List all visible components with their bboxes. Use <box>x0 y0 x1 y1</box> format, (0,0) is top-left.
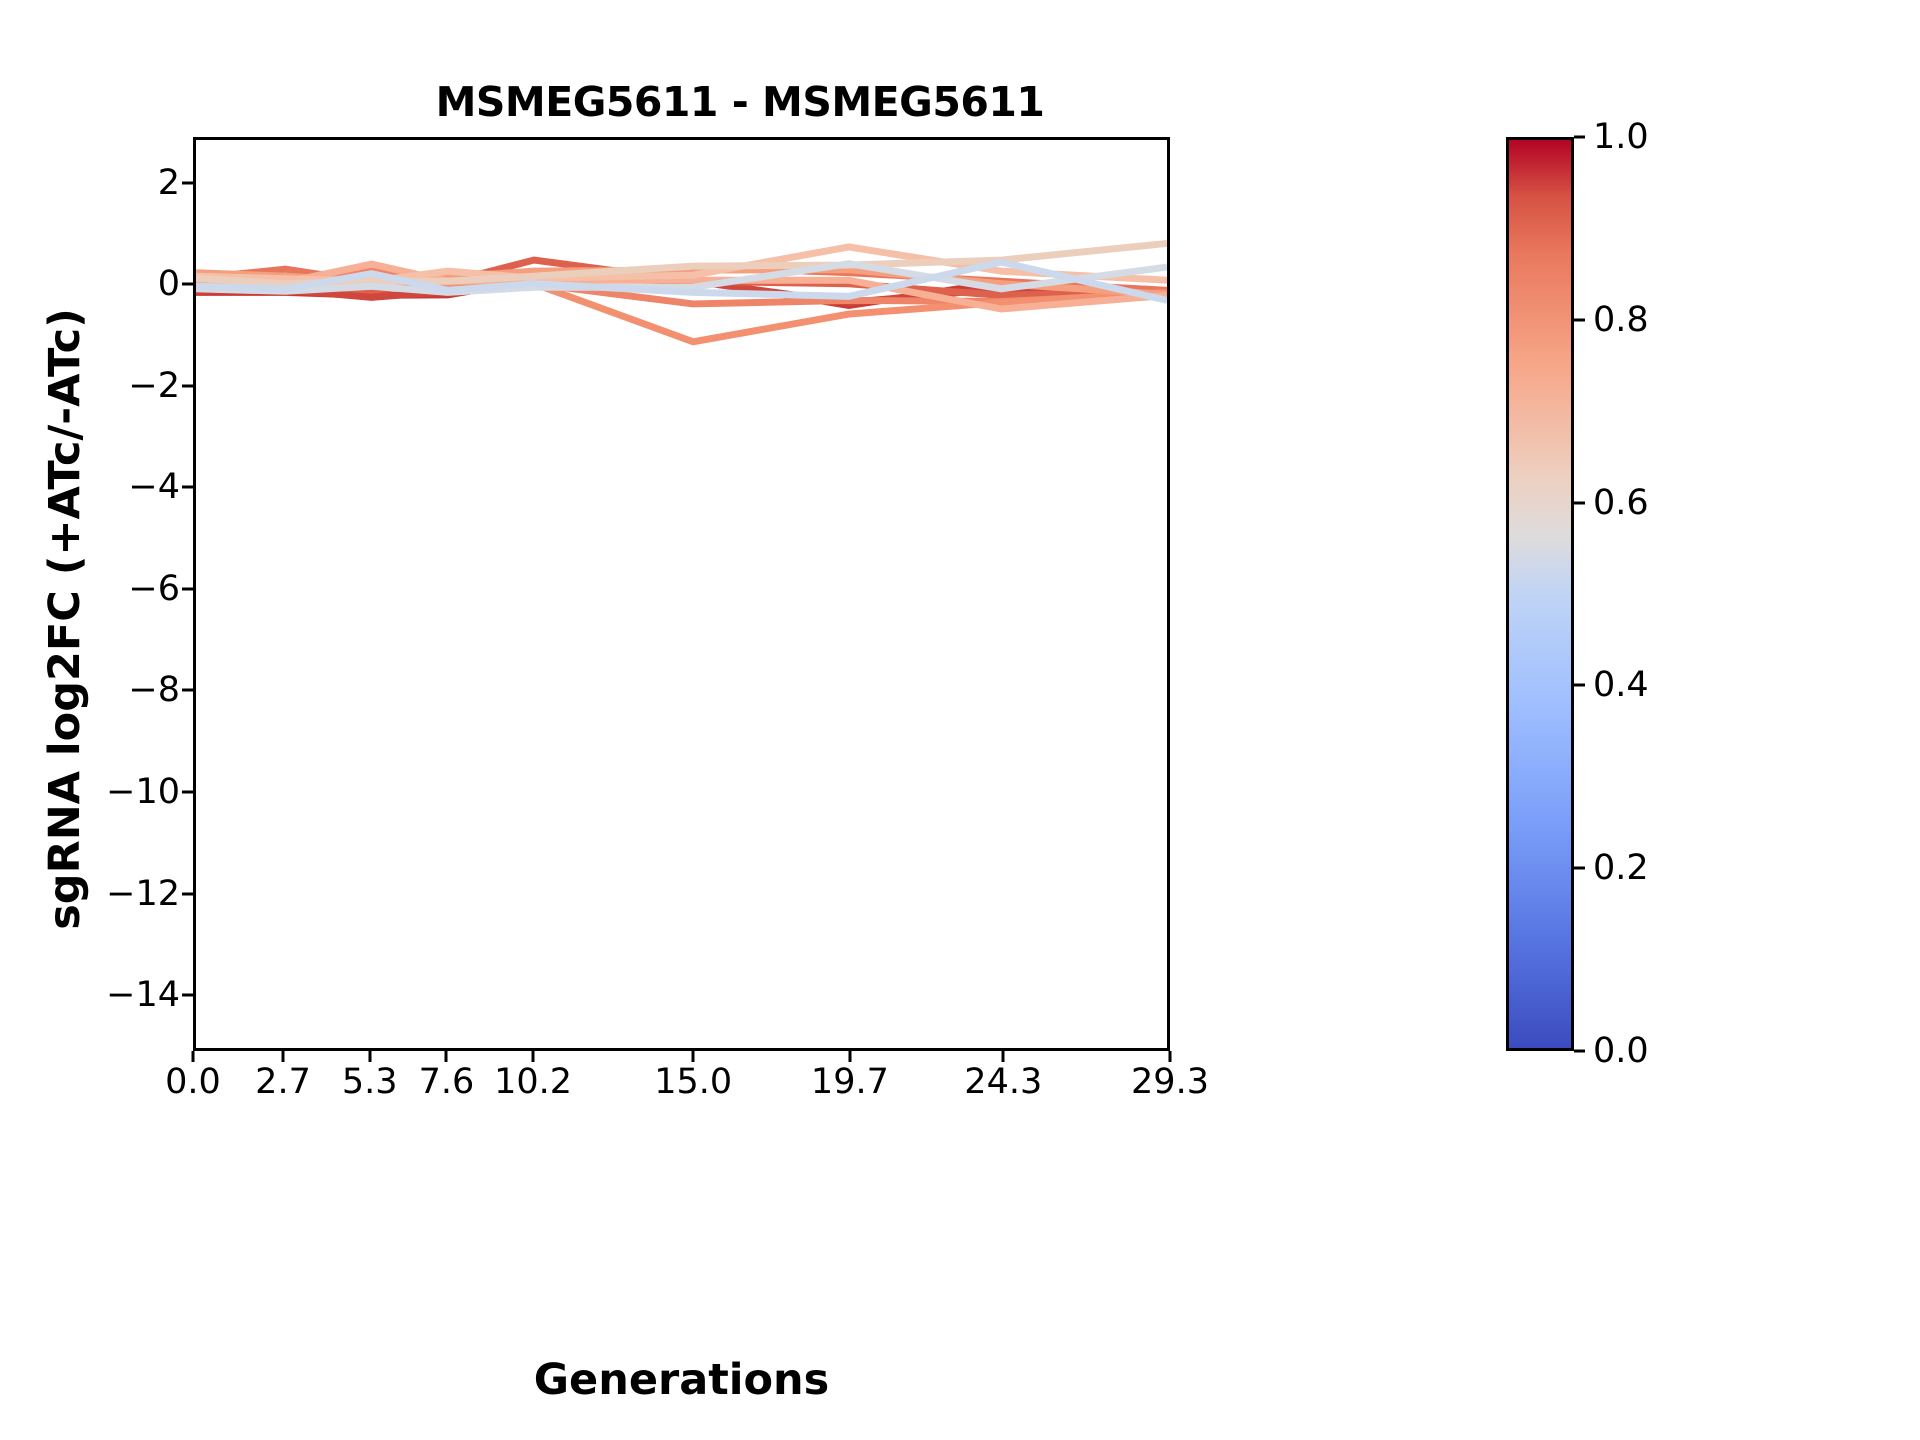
colorbar-tick-mark <box>1574 501 1585 504</box>
colorbar-tick-mark <box>1574 136 1585 139</box>
y-tick-mark <box>182 791 193 794</box>
x-tick-label: 2.7 <box>255 1062 311 1102</box>
y-tick-label: −10 <box>106 772 180 812</box>
x-tick-label: 29.3 <box>1131 1062 1209 1102</box>
y-tick-mark <box>182 283 193 286</box>
colorbar-tick-label: 0.0 <box>1593 1031 1649 1071</box>
series-lines-svg <box>196 140 1167 1048</box>
x-tick-mark <box>848 1051 851 1062</box>
colorbar-tick-mark <box>1574 318 1585 321</box>
x-tick-mark <box>1002 1051 1005 1062</box>
y-tick-mark <box>182 384 193 387</box>
x-tick-mark <box>1169 1051 1172 1062</box>
x-tick-label: 19.7 <box>811 1062 889 1102</box>
colorbar-tick-label: 0.6 <box>1593 483 1649 523</box>
y-tick-mark <box>182 994 193 997</box>
figure-canvas: MSMEG5611 - MSMEG5611 sgRNA log2FC (+ATc… <box>0 0 1920 1440</box>
y-tick-label: −6 <box>128 569 180 609</box>
colorbar-gradient <box>1506 137 1574 1051</box>
colorbar-tick-mark <box>1574 1050 1585 1053</box>
colorbar: 1.00.80.60.40.20.0 <box>1506 137 1574 1051</box>
y-tick-label: 0 <box>158 264 180 304</box>
colorbar-tick-label: 0.4 <box>1593 665 1649 705</box>
colorbar-tick-label: 0.8 <box>1593 300 1649 340</box>
chart-title: MSMEG5611 - MSMEG5611 <box>240 78 1240 126</box>
y-tick-mark <box>182 587 193 590</box>
colorbar-tick-mark <box>1574 867 1585 870</box>
y-tick-mark <box>182 892 193 895</box>
x-tick-label: 7.6 <box>419 1062 475 1102</box>
x-tick-mark <box>282 1051 285 1062</box>
x-tick-mark <box>692 1051 695 1062</box>
y-tick-mark <box>182 689 193 692</box>
x-tick-mark <box>368 1051 371 1062</box>
y-tick-label: 2 <box>158 163 180 203</box>
x-tick-label: 5.3 <box>342 1062 398 1102</box>
x-tick-label: 15.0 <box>654 1062 732 1102</box>
x-tick-mark <box>445 1051 448 1062</box>
x-axis-label: Generations <box>193 1355 1170 1405</box>
x-tick-label: 10.2 <box>494 1062 572 1102</box>
y-axis-tick-group: 20−2−4−6−8−10−12−14 <box>80 0 180 1440</box>
plot-area <box>193 137 1170 1051</box>
y-tick-label: −8 <box>128 670 180 710</box>
x-tick-mark <box>192 1051 195 1062</box>
y-tick-mark <box>182 181 193 184</box>
colorbar-tick-mark <box>1574 684 1585 687</box>
x-tick-mark <box>532 1051 535 1062</box>
x-tick-label: 24.3 <box>964 1062 1042 1102</box>
y-tick-label: −4 <box>128 467 180 507</box>
colorbar-tick-label: 0.2 <box>1593 848 1649 888</box>
y-tick-label: −12 <box>106 874 180 914</box>
y-tick-mark <box>182 486 193 489</box>
y-tick-label: −14 <box>106 975 180 1015</box>
y-tick-label: −2 <box>128 366 180 406</box>
x-tick-label: 0.0 <box>165 1062 221 1102</box>
colorbar-tick-label: 1.0 <box>1593 117 1649 157</box>
